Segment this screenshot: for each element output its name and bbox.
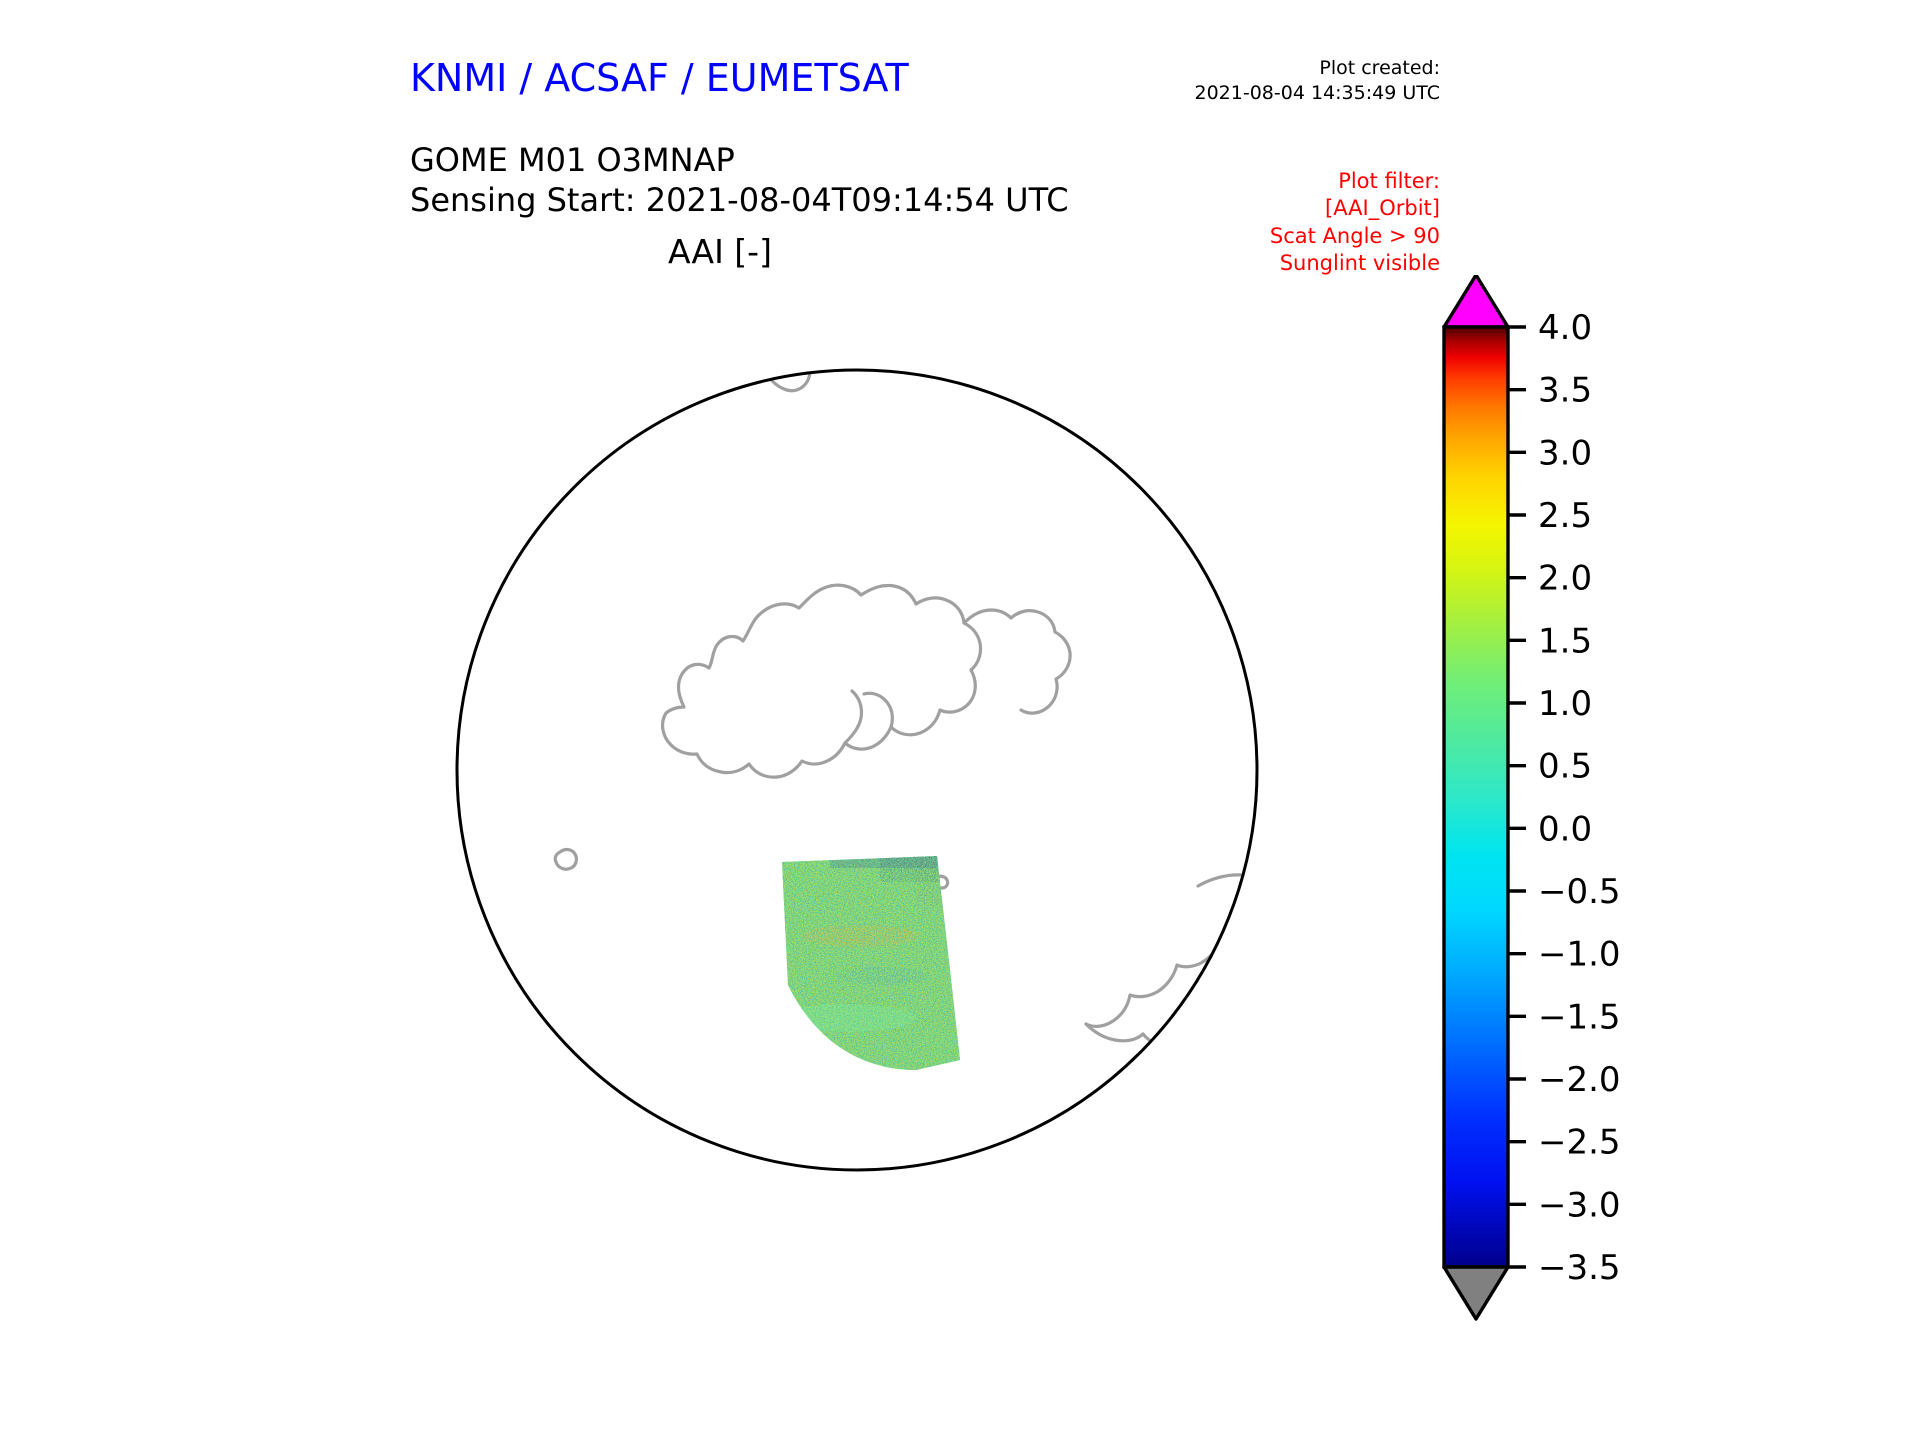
new-zealand-south-island <box>717 271 810 391</box>
colorbar-tick-label: 4.0 <box>1538 308 1592 348</box>
island-kerguelen <box>464 598 484 617</box>
dataset-name: GOME M01 O3MNAP <box>410 140 1069 180</box>
sensing-start: Sensing Start: 2021-08-04T09:14:54 UTC <box>410 180 1069 220</box>
colorbar-over-arrow <box>1444 275 1508 327</box>
south-georgia <box>1280 952 1332 973</box>
colorbar-tick-label: −0.5 <box>1538 872 1621 912</box>
colorbar-tick-label: 1.5 <box>1538 621 1592 661</box>
colorbar-tick-label: −1.0 <box>1538 935 1621 975</box>
australia-south-coast <box>360 308 487 359</box>
plot-created-label: Plot created: <box>1040 56 1440 81</box>
plot-filter-block: Plot filter: [AAI_Orbit] Scat Angle > 90… <box>1120 168 1440 277</box>
colorbar-tick-label: 3.5 <box>1538 371 1592 411</box>
colorbar-tick-label: 2.5 <box>1538 496 1592 536</box>
colorbar-tick-label: −2.5 <box>1538 1123 1621 1163</box>
tasmania <box>514 383 558 429</box>
colorbar-tick-label: −3.5 <box>1538 1248 1621 1288</box>
plot-created-timestamp: 2021-08-04 14:35:49 UTC <box>1040 81 1440 106</box>
colorbar-tick-label: 2.0 <box>1538 559 1592 599</box>
plot-created-block: Plot created: 2021-08-04 14:35:49 UTC <box>1040 56 1440 106</box>
colorbar-gradient <box>1444 327 1508 1267</box>
plot-page: KNMI / ACSAF / EUMETSAT Plot created: 20… <box>0 0 1920 1440</box>
colorbar-tick-label: −1.5 <box>1538 997 1621 1037</box>
colorbar-under-arrow <box>1444 1267 1508 1319</box>
organization-title: KNMI / ACSAF / EUMETSAT <box>410 56 909 100</box>
plot-filter-scat-angle: Scat Angle > 90 <box>1120 223 1440 250</box>
colorbar-ticks <box>1508 327 1526 1267</box>
plot-filter-label: Plot filter: <box>1120 168 1440 195</box>
south-america-east-coast <box>1264 908 1370 932</box>
colorbar-tick-label: −2.0 <box>1538 1060 1621 1100</box>
new-zealand-north-island <box>786 270 827 324</box>
colorbar-tick-label: 3.0 <box>1538 433 1592 473</box>
falkland-islands <box>1227 985 1248 1005</box>
plot-filter-name: [AAI_Orbit] <box>1120 195 1440 222</box>
colorbar-panel: 4.0 3.5 3.0 2.5 2.0 1.5 1.0 0.5 0.0 −0.5… <box>1430 275 1690 1325</box>
colorbar-tick-label: −3.0 <box>1538 1185 1621 1225</box>
colorbar-tick-labels: 4.0 3.5 3.0 2.5 2.0 1.5 1.0 0.5 0.0 −0.5… <box>1538 308 1621 1288</box>
colorbar-tick-label: 0.5 <box>1538 747 1592 787</box>
colorbar-tick-label: 0.0 <box>1538 809 1592 849</box>
dataset-info: GOME M01 O3MNAP Sensing Start: 2021-08-0… <box>410 140 1069 221</box>
colorbar-tick-label: 1.0 <box>1538 684 1592 724</box>
map-panel <box>360 270 1370 1315</box>
